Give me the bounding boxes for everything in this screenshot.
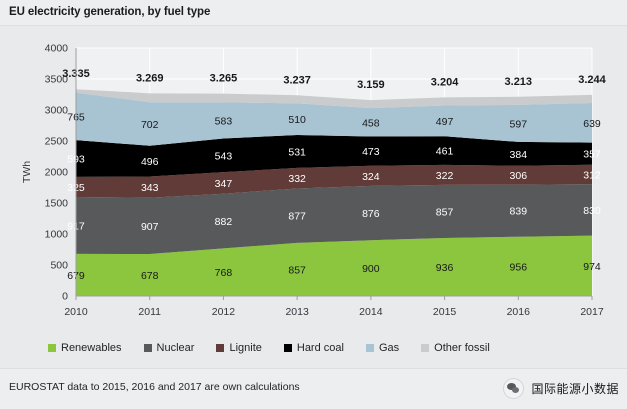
chart-screenshot: EU electricity generation, by fuel type … [0, 0, 627, 409]
data-value-label: 877 [288, 211, 306, 223]
wechat-avatar-icon [503, 378, 524, 399]
data-value-label: 306 [510, 170, 528, 182]
x-axis-tick-label: 2015 [433, 306, 457, 318]
data-value-label: 900 [362, 263, 380, 275]
data-value-label: 936 [436, 262, 454, 274]
legend-item[interactable]: Lignite [216, 342, 261, 354]
data-value-label: 496 [141, 156, 159, 168]
y-axis-tick-label: 1000 [45, 229, 69, 241]
y-axis-tick-label: 500 [50, 260, 68, 272]
source-note: EUROSTAT data to 2015, 2016 and 2017 are… [9, 381, 300, 393]
y-axis-title: TWh [21, 161, 33, 183]
y-axis-tick-label: 1500 [45, 198, 69, 210]
data-value-label: 357 [583, 149, 601, 161]
wechat-account-badge: 国际能源小数据 [503, 378, 619, 399]
data-value-label: 857 [288, 264, 306, 276]
page-title: EU electricity generation, by fuel type [9, 6, 210, 18]
data-value-label: 839 [510, 206, 528, 218]
data-value-label: 639 [583, 118, 601, 130]
legend-label: Nuclear [157, 342, 195, 354]
y-axis-tick-label: 2000 [45, 167, 69, 179]
wechat-account-name: 国际能源小数据 [531, 380, 619, 397]
data-value-label: 347 [215, 178, 233, 190]
data-value-label: 702 [141, 119, 159, 131]
legend-item[interactable]: Other fossil [421, 342, 490, 354]
legend-item[interactable]: Gas [366, 342, 399, 354]
legend-swatch-icon [144, 344, 152, 352]
data-value-label: 312 [583, 169, 601, 181]
data-value-label: 324 [362, 171, 380, 183]
x-axis-tick-label: 2012 [212, 306, 236, 318]
y-axis-tick-label: 0 [62, 291, 68, 303]
data-value-label: 907 [141, 221, 159, 233]
total-value-label: 3.265 [210, 73, 238, 85]
legend-label: Gas [379, 342, 399, 354]
x-axis-tick-label: 2014 [359, 306, 383, 318]
legend-item[interactable]: Nuclear [144, 342, 195, 354]
data-value-label: 583 [215, 115, 233, 127]
data-value-label: 597 [510, 118, 528, 130]
data-value-label: 332 [288, 173, 306, 185]
total-value-label: 3.204 [431, 76, 459, 88]
chart-canvas: 05001000150020002500300035004000TWh67967… [0, 26, 627, 336]
y-axis-tick-label: 4000 [45, 43, 69, 55]
legend-label: Renewables [61, 342, 122, 354]
data-value-label: 497 [436, 116, 454, 128]
data-value-label: 768 [215, 267, 233, 279]
chart-legend: RenewablesNuclearLigniteHard coalGasOthe… [0, 336, 627, 368]
legend-item[interactable]: Renewables [48, 342, 122, 354]
legend-label: Lignite [229, 342, 261, 354]
data-value-label: 531 [288, 146, 306, 158]
footer-bar: EUROSTAT data to 2015, 2016 and 2017 are… [0, 368, 627, 409]
total-value-label: 3.213 [505, 76, 533, 88]
title-bar: EU electricity generation, by fuel type [0, 0, 627, 26]
x-axis-tick-label: 2011 [138, 306, 161, 318]
x-axis-tick-label: 2010 [64, 306, 88, 318]
data-value-label: 343 [141, 182, 159, 194]
legend-label: Hard coal [297, 342, 344, 354]
y-axis-tick-label: 2500 [45, 136, 69, 148]
legend-swatch-icon [421, 344, 429, 352]
legend-swatch-icon [284, 344, 292, 352]
stacked-area-chart: 05001000150020002500300035004000TWh67967… [0, 26, 627, 336]
data-value-label: 678 [141, 270, 159, 282]
data-value-label: 473 [362, 146, 380, 158]
data-value-label: 956 [510, 261, 528, 273]
x-axis-tick-label: 2013 [285, 306, 309, 318]
legend-item[interactable]: Hard coal [284, 342, 344, 354]
data-value-label: 458 [362, 117, 380, 129]
data-value-label: 384 [510, 149, 528, 161]
x-axis-tick-label: 2017 [580, 306, 604, 318]
legend-swatch-icon [366, 344, 374, 352]
legend-swatch-icon [216, 344, 224, 352]
total-value-label: 3.269 [136, 72, 164, 84]
y-axis-tick-label: 3000 [45, 105, 69, 117]
data-value-label: 543 [215, 150, 233, 162]
data-value-label: 461 [436, 146, 454, 158]
x-axis-tick-label: 2016 [507, 306, 531, 318]
legend-label: Other fossil [434, 342, 490, 354]
total-value-label: 3.237 [283, 74, 311, 86]
data-value-label: 876 [362, 208, 380, 220]
data-value-label: 857 [436, 206, 454, 218]
data-value-label: 882 [215, 216, 233, 228]
total-value-label: 3.159 [357, 79, 385, 91]
legend-swatch-icon [48, 344, 56, 352]
data-value-label: 974 [583, 261, 601, 273]
data-value-label: 322 [436, 170, 454, 182]
total-value-label: 3.244 [578, 74, 606, 86]
data-value-label: 830 [583, 205, 601, 217]
data-value-label: 510 [288, 114, 306, 126]
